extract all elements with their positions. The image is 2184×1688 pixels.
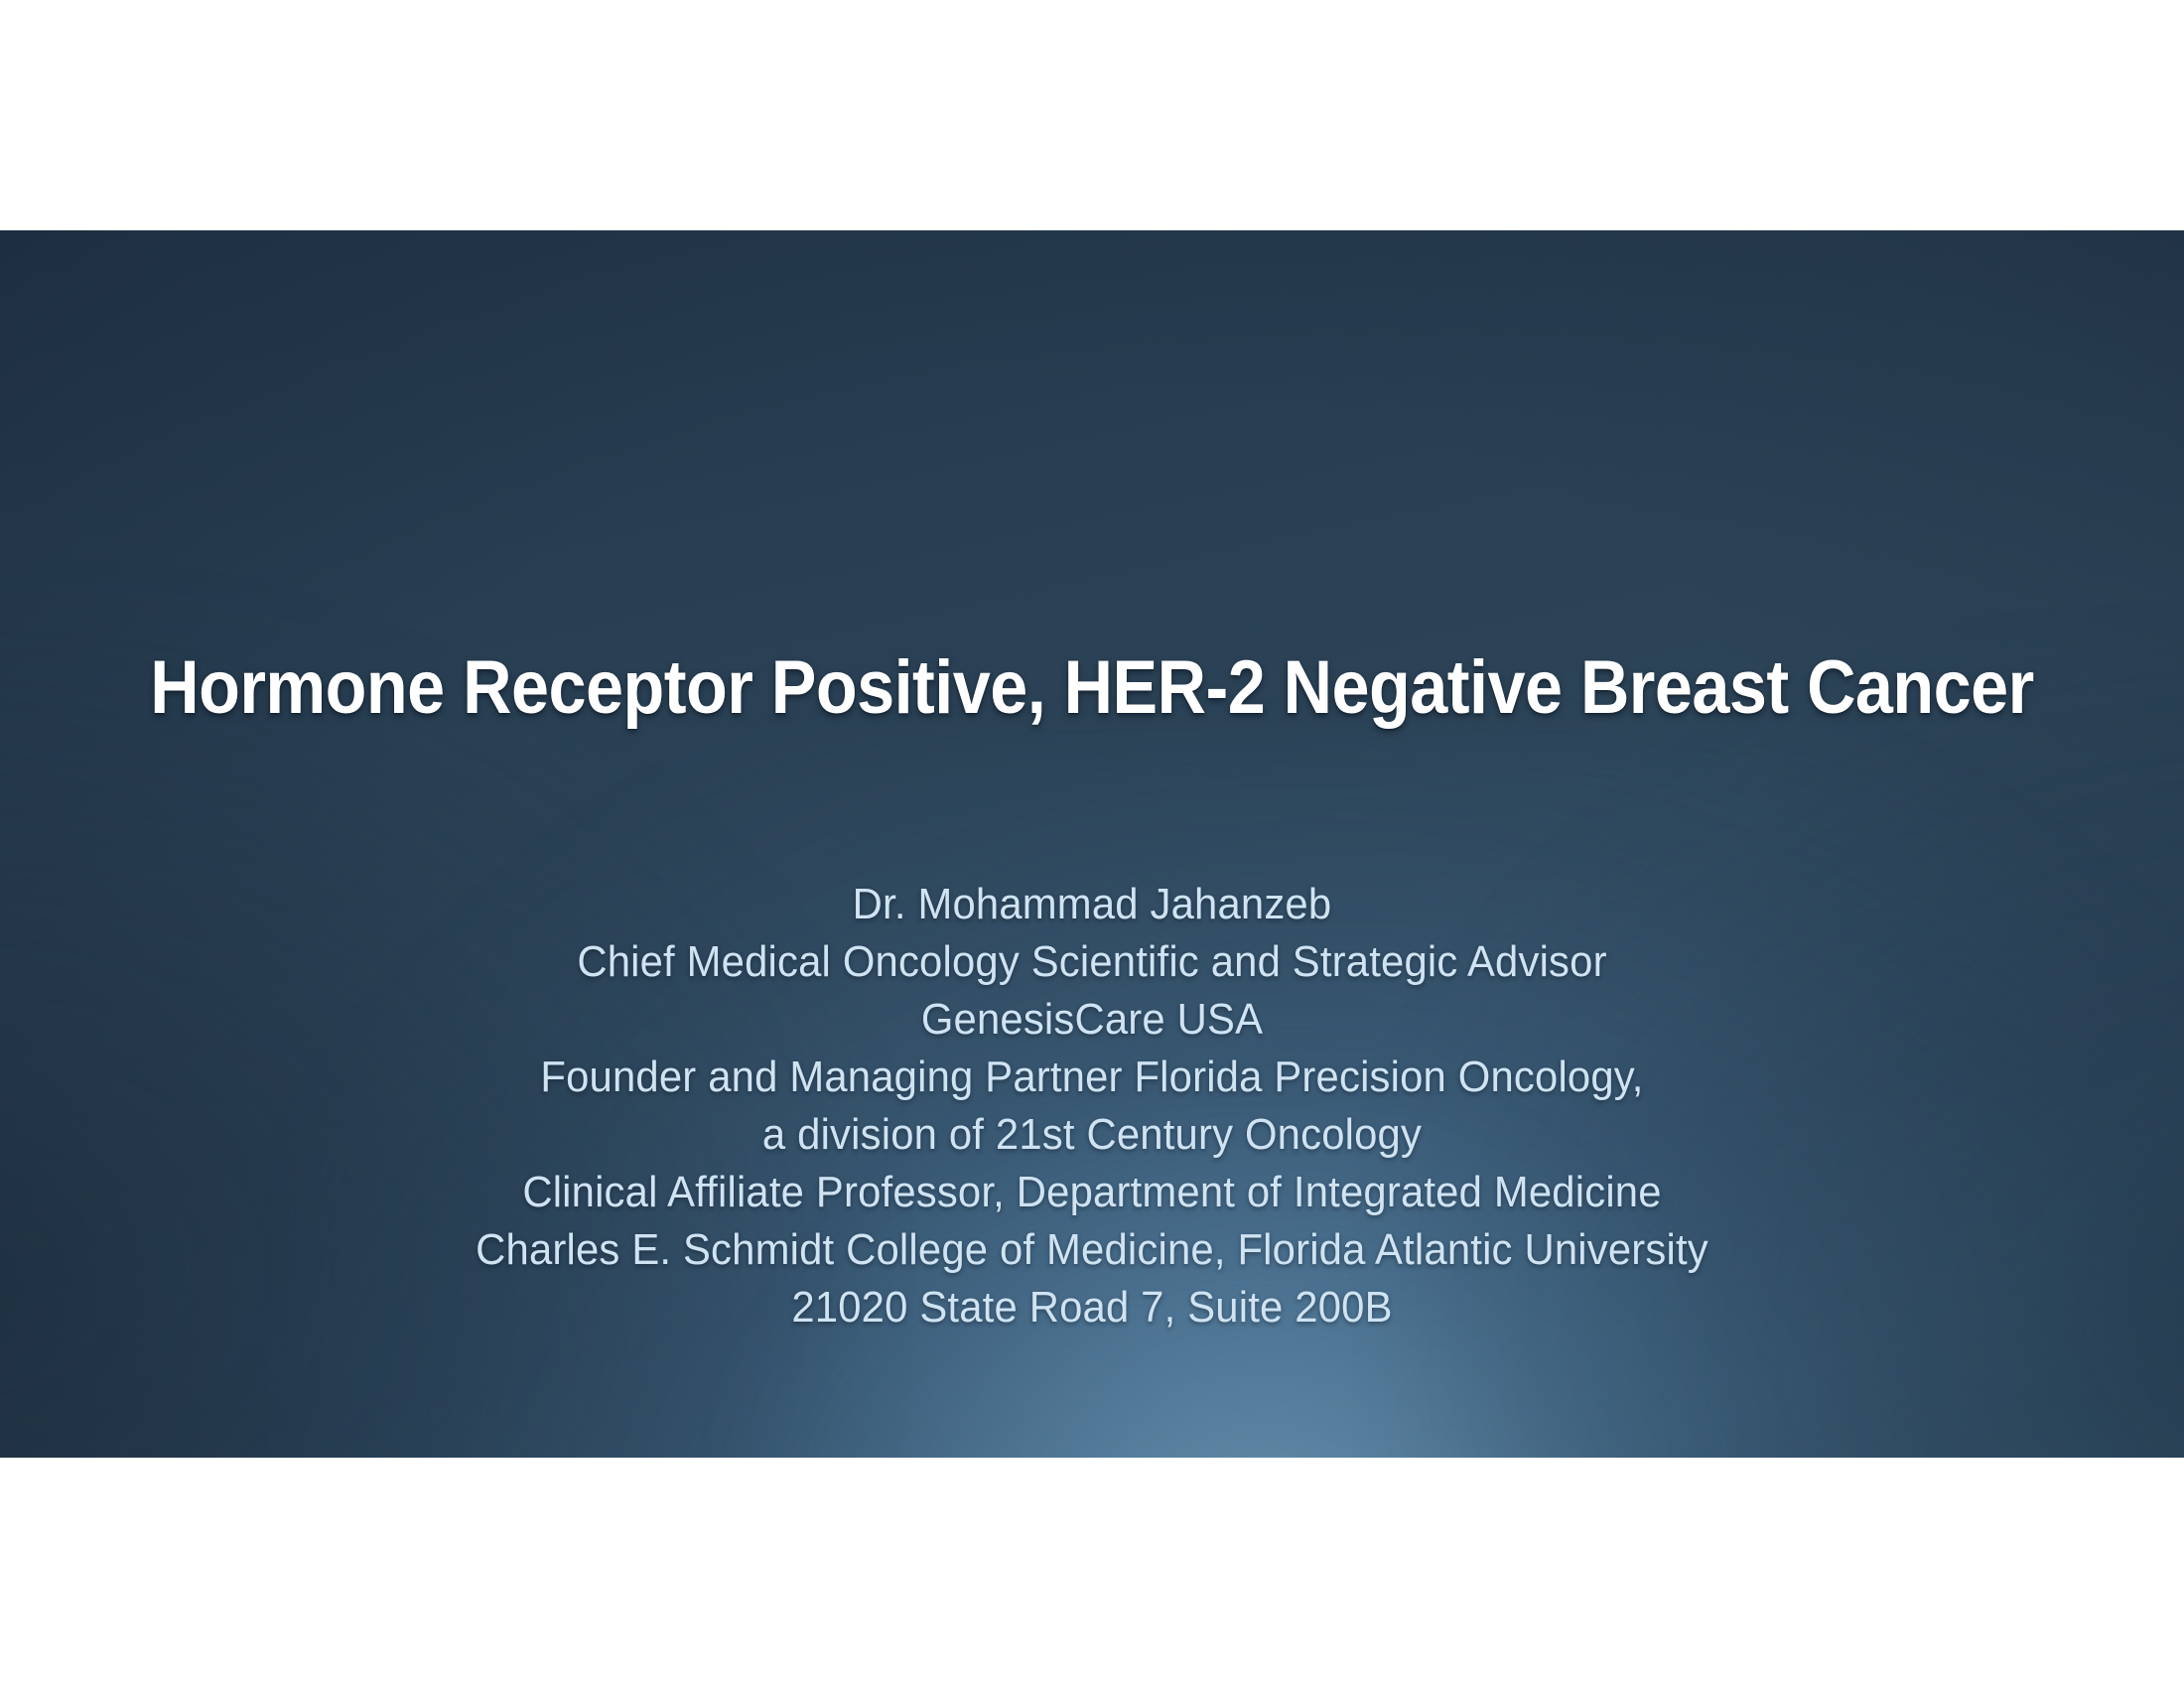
presenter-role-founder: Founder and Managing Partner Florida Pre… [55, 1049, 2129, 1106]
slide-page: Hormone Receptor Positive, HER-2 Negativ… [0, 0, 2184, 1688]
presenter-academic-role: Clinical Affiliate Professor, Department… [55, 1164, 2129, 1221]
presenter-organization: GenesisCare USA [55, 991, 2129, 1049]
presenter-address: 21020 State Road 7, Suite 200B [55, 1279, 2129, 1336]
presenter-role: Chief Medical Oncology Scientific and St… [55, 933, 2129, 991]
presenter-division: a division of 21st Century Oncology [55, 1106, 2129, 1164]
title-slide: Hormone Receptor Positive, HER-2 Negativ… [0, 230, 2184, 1458]
presenter-details-block: Dr. Mohammad Jahanzeb Chief Medical Onco… [0, 876, 2184, 1336]
slide-title: Hormone Receptor Positive, HER-2 Negativ… [109, 648, 2075, 728]
presenter-name: Dr. Mohammad Jahanzeb [55, 876, 2129, 933]
presenter-institution: Charles E. Schmidt College of Medicine, … [55, 1221, 2129, 1279]
